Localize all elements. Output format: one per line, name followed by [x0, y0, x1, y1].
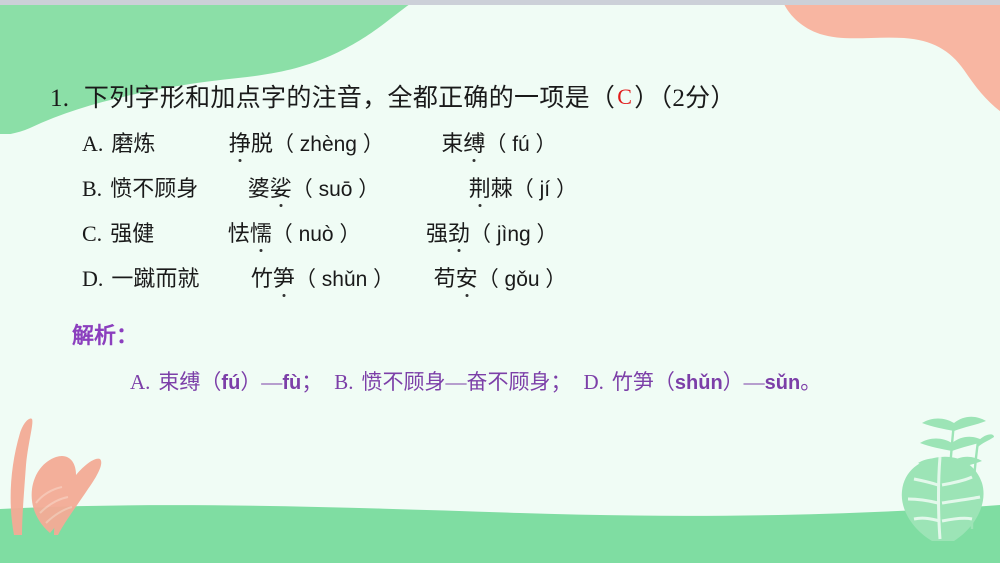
explanation-body: A.束缚（fú）—fù；B.愤不顾身—奋不顾身；D.竹笋（shǔn）—sǔn。	[72, 362, 962, 403]
slide-canvas: 1. 下列字形和加点字的注音，全都正确的一项是（C）（2分） A.磨炼 挣脱（ …	[0, 0, 1000, 563]
option-d-word3-dotted-char: 安	[456, 261, 478, 293]
option-a[interactable]: A.磨炼 挣脱（ zhèng ） 束缚（ fú ）	[82, 126, 557, 158]
option-d-word2-dotted-char: 笋	[273, 261, 295, 293]
option-a-label: A.	[82, 131, 103, 157]
option-c-label: C.	[82, 221, 102, 247]
option-b-word3-char: 荆	[469, 171, 491, 203]
option-b-word3-second-char: 棘	[491, 176, 513, 201]
question-stem-after-answer: ）（2分）	[634, 85, 736, 112]
option-d[interactable]: D.一蹴而就 竹笋（ shǔn ） 苟安（ gǒu ）	[82, 261, 566, 293]
question-stem-before-answer: 下列字形和加点字的注音，全都正确的一项是（	[84, 85, 615, 112]
option-d-word3-pinyin: （ gǒu ）	[478, 268, 567, 291]
bottom-left-leaf-decoration	[6, 417, 136, 537]
bottom-right-leaf-decoration	[874, 401, 994, 541]
explanation-item-a-word: 束缚（	[158, 370, 221, 394]
explanation-item-d-sep: 。	[800, 370, 821, 394]
explanation-item-d-word: 竹笋（	[612, 370, 675, 394]
option-d-word2-pinyin: （ shǔn ）	[295, 268, 394, 291]
top-left-green-blob-decoration	[0, 4, 430, 134]
explanation-item-b-word: 愤不顾身—奋不顾身	[361, 370, 550, 394]
option-b-word2-dotted-char: 娑	[270, 171, 292, 203]
option-a-word3-char: 束	[441, 131, 463, 156]
question-number: 1.	[50, 85, 69, 112]
option-c-word3-pinyin: （ jìng ）	[470, 223, 558, 246]
option-d-word3-char: 苟	[434, 266, 456, 291]
top-right-salmon-blob-decoration	[754, 4, 1000, 114]
option-a-word2-dotted-char: 挣	[229, 126, 251, 158]
option-b-word3-pinyin: （ jí ）	[513, 178, 577, 201]
option-a-word3-dotted-char: 缚	[463, 126, 485, 158]
option-c-word3-dotted-char: 劲	[448, 216, 470, 248]
option-c-word3-char: 强	[426, 221, 448, 246]
option-b-label: B.	[82, 176, 102, 202]
option-b-word2-pinyin: （ suō ）	[292, 178, 380, 201]
explanation-label: 解析：	[72, 318, 138, 350]
question-stem: 1. 下列字形和加点字的注音，全都正确的一项是（C）（2分）	[50, 78, 736, 114]
explanation-item-d-tag: D.	[583, 370, 603, 394]
option-a-word1: 磨炼	[111, 126, 155, 158]
explanation-item-d-pinyin-right: sǔn	[765, 372, 801, 394]
bottom-green-band-decoration	[0, 473, 1000, 563]
option-c-word2-dotted-char: 懦	[250, 216, 272, 248]
explanation-item-b-sep: ；	[550, 370, 571, 394]
option-b[interactable]: B.愤不顾身 婆娑（ suō ） 荆棘（ jí ）	[82, 171, 577, 203]
explanation-item-b-tag: B.	[334, 370, 353, 394]
option-b-word2-char: 婆	[248, 176, 270, 201]
explanation-item-a-sep: ；	[301, 370, 322, 394]
answer-letter: C	[615, 84, 634, 109]
explanation-item-a-tag: A.	[130, 370, 150, 394]
option-b-word1: 愤不顾身	[110, 171, 198, 203]
option-c[interactable]: C.强健 怯懦（ nuò ） 强劲（ jìng ）	[82, 216, 558, 248]
explanation-item-a-pinyin-right: fù	[282, 372, 301, 394]
option-d-word1: 一蹴而就	[111, 261, 199, 293]
top-edge-strip	[0, 0, 1000, 5]
option-c-word2-pinyin: （ nuò ）	[272, 223, 361, 246]
option-c-word1: 强健	[110, 216, 154, 248]
option-a-word3-pinyin: （ fú ）	[485, 133, 556, 156]
option-a-word2-rest: 脱	[251, 131, 273, 156]
explanation-item-a-pinyin-wrong: fú	[221, 372, 240, 394]
explanation-item-d-mid: ）—	[723, 370, 765, 394]
explanation-item-a-mid: ）—	[240, 370, 282, 394]
explanation-item-d-pinyin-wrong: shǔn	[675, 372, 723, 394]
option-c-word2-char: 怯	[228, 221, 250, 246]
option-d-word2-char: 竹	[251, 266, 273, 291]
option-d-label: D.	[82, 266, 103, 292]
option-a-word2-pinyin: （ zhèng ）	[273, 133, 384, 156]
